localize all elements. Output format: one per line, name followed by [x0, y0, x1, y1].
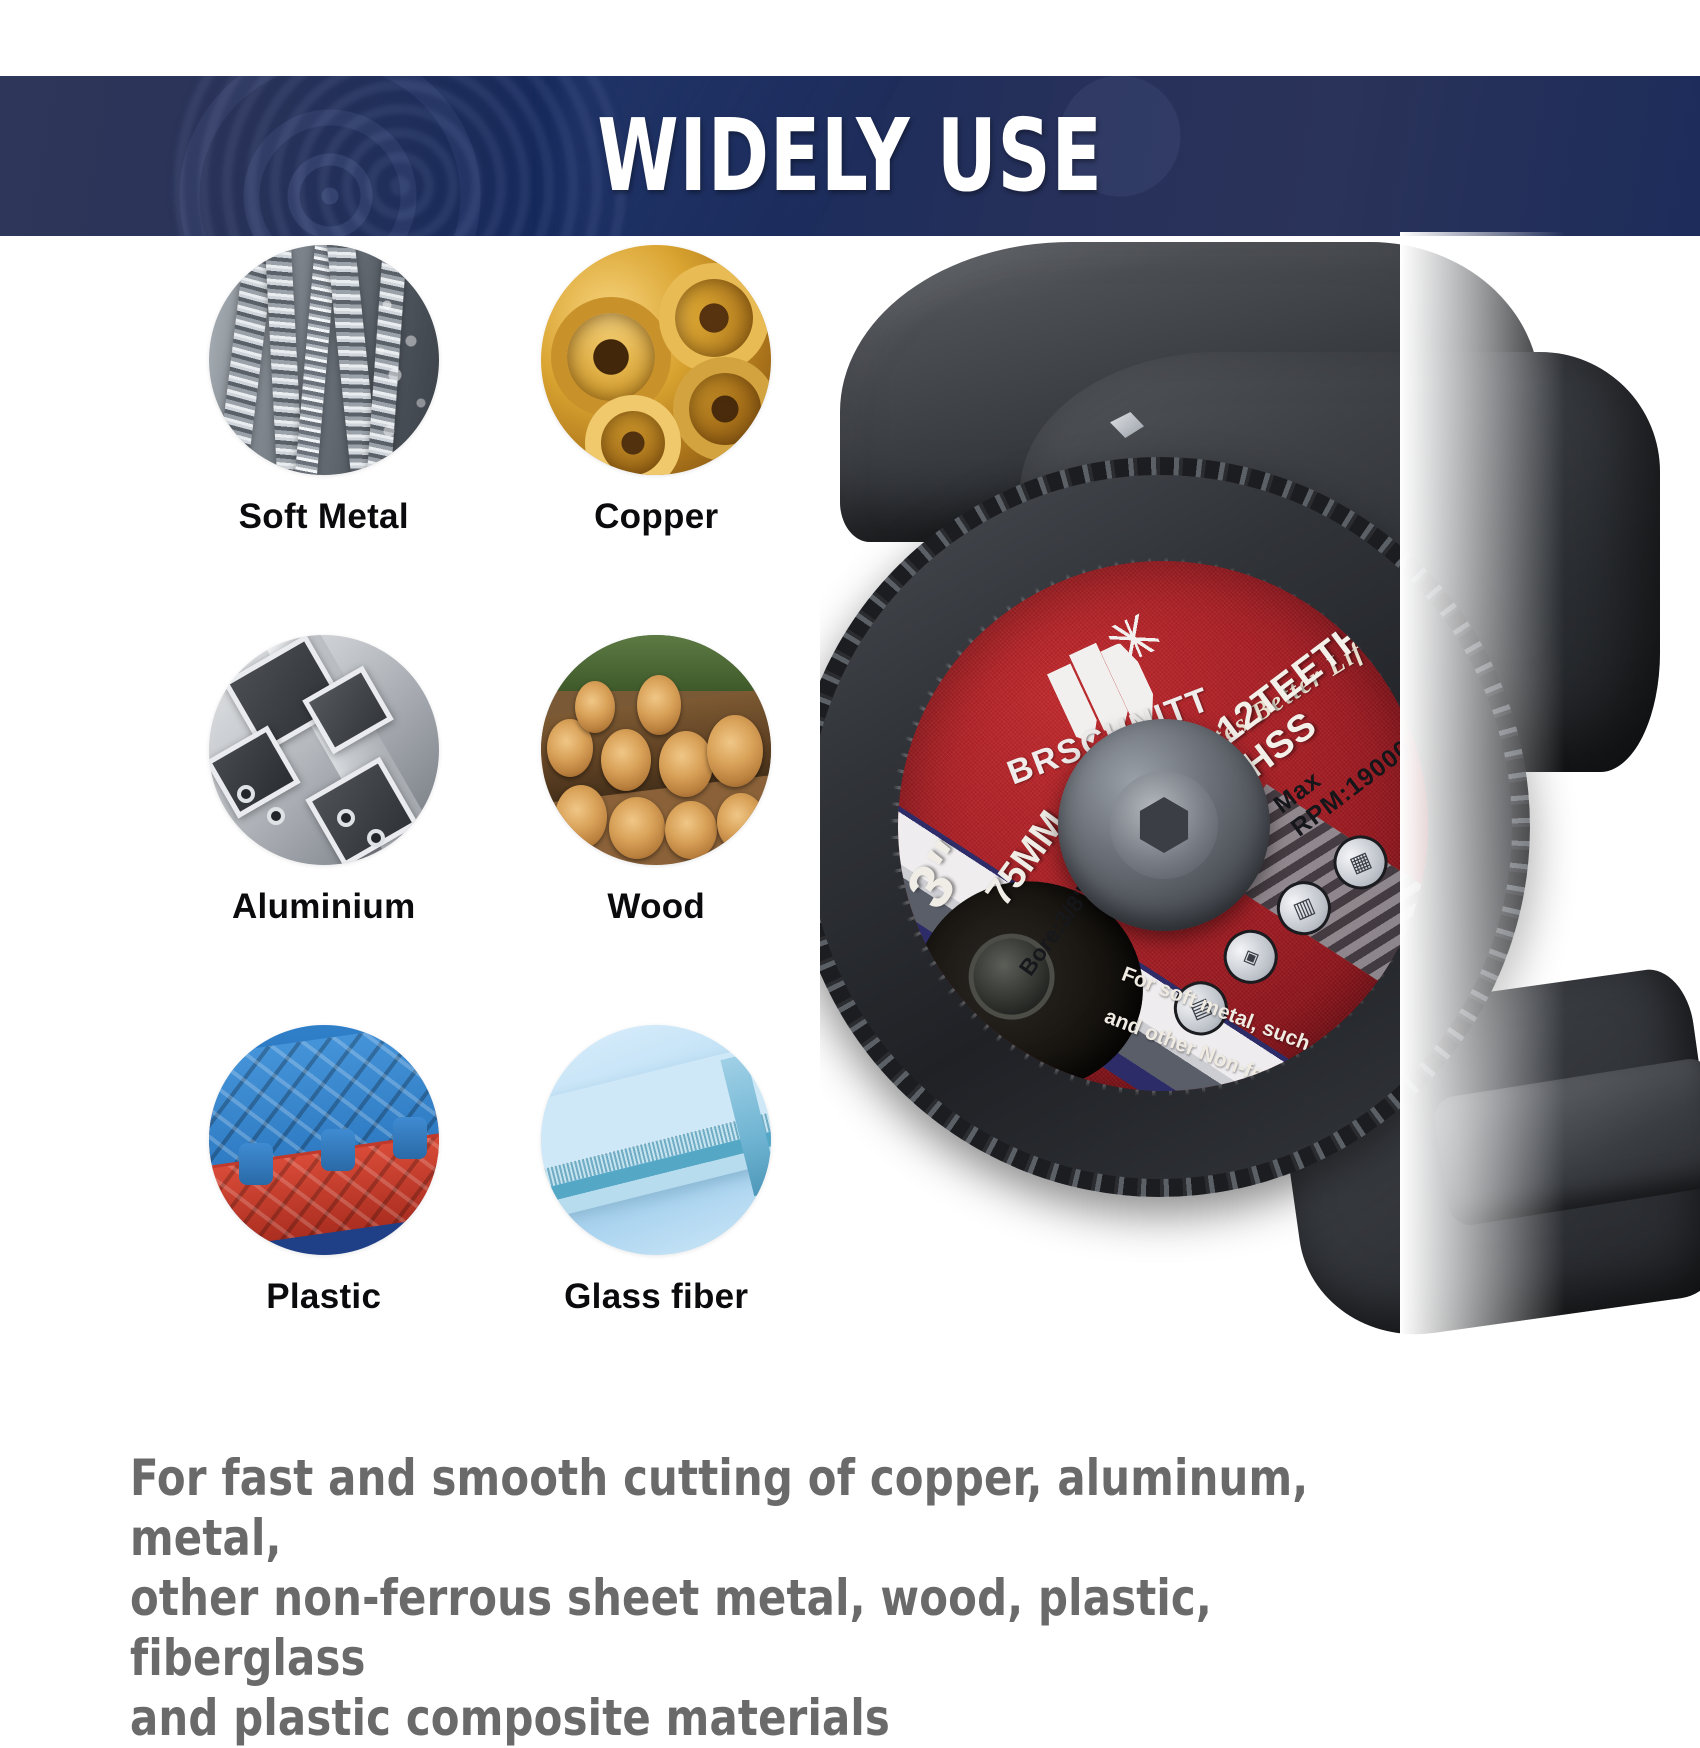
material-label: Aluminium	[232, 887, 416, 927]
description-line-2: other non-ferrous sheet metal, wood, pla…	[130, 1568, 1339, 1688]
material-label: Plastic	[266, 1277, 381, 1317]
copper-thumbnail	[541, 245, 771, 475]
aluminium-thumbnail	[209, 635, 439, 865]
header-banner: WIDELY USE	[0, 76, 1700, 236]
wood-thumbnail	[541, 635, 771, 865]
material-row-2: Aluminium Wood	[0, 635, 790, 927]
description-paragraph: For fast and smooth cutting of copper, a…	[130, 1448, 1339, 1748]
description-line-3: and plastic composite materials	[130, 1688, 1339, 1748]
description-line-1: For fast and smooth cutting of copper, a…	[130, 1448, 1339, 1568]
circular-saw-blade: BRSCHNITT Quality Creates Better Life 3"…	[820, 457, 1530, 1197]
product-photo: BRSCHNITT Quality Creates Better Life 3"…	[820, 232, 1700, 1462]
page-title: WIDELY USE	[153, 76, 1547, 236]
material-item-wood: Wood	[523, 635, 791, 927]
blade-arbor-hub	[1058, 719, 1270, 931]
plastic-thumbnail	[209, 1025, 439, 1255]
material-label: Copper	[594, 497, 718, 537]
material-item-soft-metal: Soft Metal	[190, 245, 458, 537]
material-item-plastic: Plastic	[190, 1025, 458, 1317]
material-grid: Soft Metal Copper Aluminium	[0, 245, 790, 1317]
material-label: Glass fiber	[564, 1277, 748, 1317]
material-item-copper: Copper	[523, 245, 791, 537]
soft-metal-thumbnail	[209, 245, 439, 475]
material-row-3: Plastic Glass fiber	[0, 1025, 790, 1317]
water-droplets-icon	[369, 245, 439, 475]
material-item-glass-fiber: Glass fiber	[523, 1025, 791, 1317]
material-label: Soft Metal	[239, 497, 409, 537]
material-item-aluminium: Aluminium	[190, 635, 458, 927]
material-label: Wood	[607, 887, 705, 927]
material-row-1: Soft Metal Copper	[0, 245, 790, 537]
glass-fiber-thumbnail	[541, 1025, 771, 1255]
